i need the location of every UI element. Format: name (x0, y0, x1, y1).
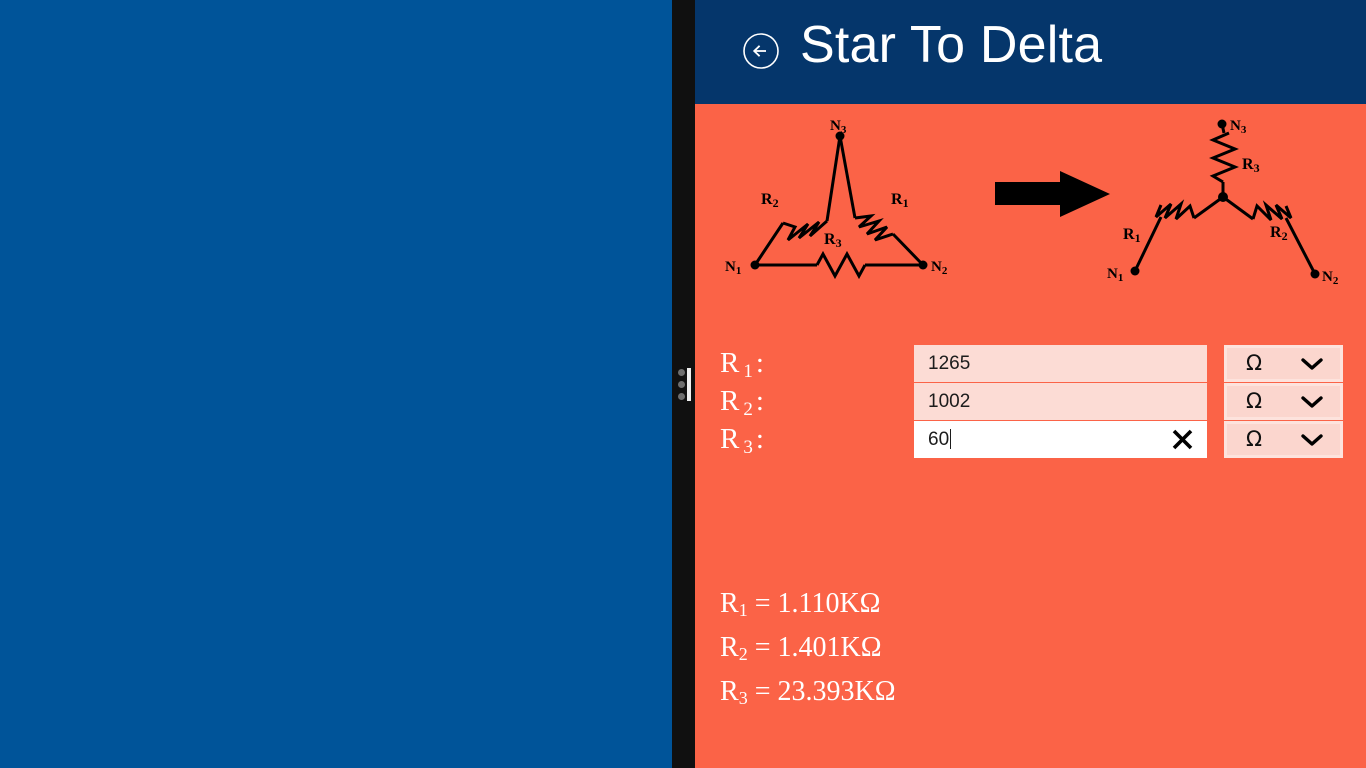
network-diagram-svg: N1 N2 N3 R2 R1 R3 (695, 104, 1366, 304)
label-r3-base: R (720, 423, 739, 455)
unit-select-r2-value: Ω (1246, 386, 1262, 417)
result-r3: R3 = 23.393KΩ (720, 673, 896, 717)
star-node-n3-dot (1218, 120, 1227, 129)
snapped-app-blue-panel[interactable] (0, 0, 672, 768)
back-arrow-circle-icon[interactable] (742, 32, 780, 70)
result-r2: R2 = 1.401KΩ (720, 629, 896, 673)
chevron-down-icon (1301, 395, 1323, 409)
result-r1: R1 = 1.110KΩ (720, 585, 896, 629)
star-label-r2: R2 (1270, 224, 1288, 243)
app-header: Star To Delta (695, 0, 1366, 104)
input-r2-value: 1002 (928, 383, 970, 420)
delta-label-r1: R1 (891, 191, 909, 210)
result-r2-subscript: 2 (739, 644, 748, 664)
right-arrow-icon (995, 171, 1110, 217)
delta-label-r3: R3 (824, 231, 842, 250)
form-row-r2: R2: 1002 Ω (695, 383, 1366, 420)
label-r3-suffix: : (756, 423, 764, 455)
resistance-input-form: R1: 1265 Ω R2: 1002 (695, 345, 1366, 459)
result-r1-base: R (720, 588, 739, 619)
delta-node-n2-dot (919, 261, 928, 270)
label-r2-subscript: 2 (739, 399, 756, 420)
unit-select-r3[interactable]: Ω (1224, 421, 1343, 458)
unit-select-r1-value: Ω (1246, 348, 1262, 379)
clear-icon[interactable] (1171, 428, 1194, 451)
star-label-r1: R1 (1123, 226, 1141, 245)
delta-node-n1-dot (751, 261, 760, 270)
label-r1-base: R (720, 347, 739, 379)
network-diagram: N1 N2 N3 R2 R1 R3 (695, 104, 1366, 304)
screen: Star To Delta (0, 0, 1366, 768)
splitter-handle-bar (687, 368, 691, 401)
star-node-n1-dot (1131, 267, 1140, 276)
star-center-dot (1218, 192, 1228, 202)
form-row-r1: R1: 1265 Ω (695, 345, 1366, 382)
unit-select-r1[interactable]: Ω (1224, 345, 1343, 382)
page-title: Star To Delta (800, 15, 1102, 75)
label-r2-base: R (720, 385, 739, 417)
input-r1-value: 1265 (928, 345, 970, 382)
input-r1[interactable]: 1265 (914, 345, 1207, 382)
delta-label-n1: N1 (725, 259, 741, 277)
label-r2: R2: (720, 383, 900, 423)
unit-select-r2[interactable]: Ω (1224, 383, 1343, 420)
label-r1-suffix: : (756, 347, 764, 379)
text-caret (950, 429, 951, 449)
input-r2[interactable]: 1002 (914, 383, 1207, 420)
label-r1: R1: (720, 345, 900, 385)
splitter-handle-dots (678, 369, 685, 400)
result-r3-text: = 23.393KΩ (748, 676, 896, 707)
results-panel: R1 = 1.110KΩ R2 = 1.401KΩ R3 = 23.393KΩ (720, 585, 896, 717)
star-to-delta-app: Star To Delta (695, 0, 1366, 768)
chevron-down-icon (1301, 357, 1323, 371)
star-label-n3: N3 (1230, 118, 1247, 136)
input-r3-value-wrap: 60 (928, 421, 951, 458)
delta-label-r2: R2 (761, 191, 779, 210)
delta-label-n2: N2 (931, 259, 948, 277)
star-label-r3: R3 (1242, 156, 1260, 175)
result-r1-text: = 1.110KΩ (748, 588, 881, 619)
input-r3[interactable]: 60 (914, 421, 1207, 458)
result-r1-subscript: 1 (739, 600, 748, 620)
result-r3-subscript: 3 (739, 688, 748, 708)
app-splitter[interactable] (672, 0, 695, 768)
label-r1-subscript: 1 (739, 361, 756, 382)
result-r3-base: R (720, 676, 739, 707)
label-r3-subscript: 3 (739, 437, 756, 458)
star-label-n2: N2 (1322, 269, 1339, 287)
form-row-r3: R3: 60 Ω (695, 421, 1366, 458)
delta-label-n3: N3 (830, 118, 847, 136)
label-r2-suffix: : (756, 385, 764, 417)
chevron-down-icon (1301, 433, 1323, 447)
label-r3: R3: (720, 421, 900, 461)
star-label-n1: N1 (1107, 266, 1123, 284)
result-r2-base: R (720, 632, 739, 663)
result-r2-text: = 1.401KΩ (748, 632, 882, 663)
input-r3-value: 60 (928, 429, 949, 450)
unit-select-r3-value: Ω (1246, 424, 1262, 455)
star-node-n2-dot (1311, 270, 1320, 279)
